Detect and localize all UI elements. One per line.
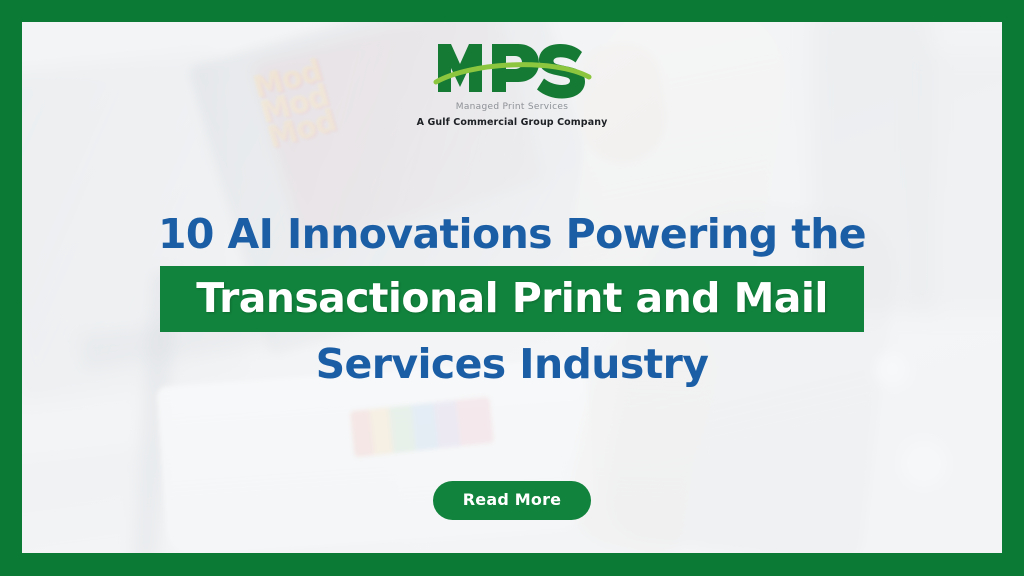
headline-line-3: Services Industry bbox=[22, 338, 1002, 390]
headline-line-1: 10 AI Innovations Powering the bbox=[22, 208, 1002, 260]
promo-banner: Mod Mod Mod bbox=[0, 0, 1024, 576]
mps-logo-mark-icon bbox=[432, 38, 592, 100]
cta-container: Read More bbox=[22, 481, 1002, 520]
mps-logo-subtitle: Managed Print Services bbox=[22, 102, 1002, 112]
headline: 10 AI Innovations Powering the Transacti… bbox=[22, 208, 1002, 390]
read-more-button[interactable]: Read More bbox=[433, 481, 591, 520]
banner-content: Managed Print Services A Gulf Commercial… bbox=[22, 22, 1002, 553]
banner-stage: Mod Mod Mod bbox=[22, 22, 1002, 553]
mps-logo: Managed Print Services A Gulf Commercial… bbox=[22, 38, 1002, 128]
headline-band-wrapper: Transactional Print and Mail bbox=[22, 266, 1002, 332]
mps-logo-tagline: A Gulf Commercial Group Company bbox=[22, 117, 1002, 128]
headline-line-2-highlight: Transactional Print and Mail bbox=[160, 266, 864, 332]
